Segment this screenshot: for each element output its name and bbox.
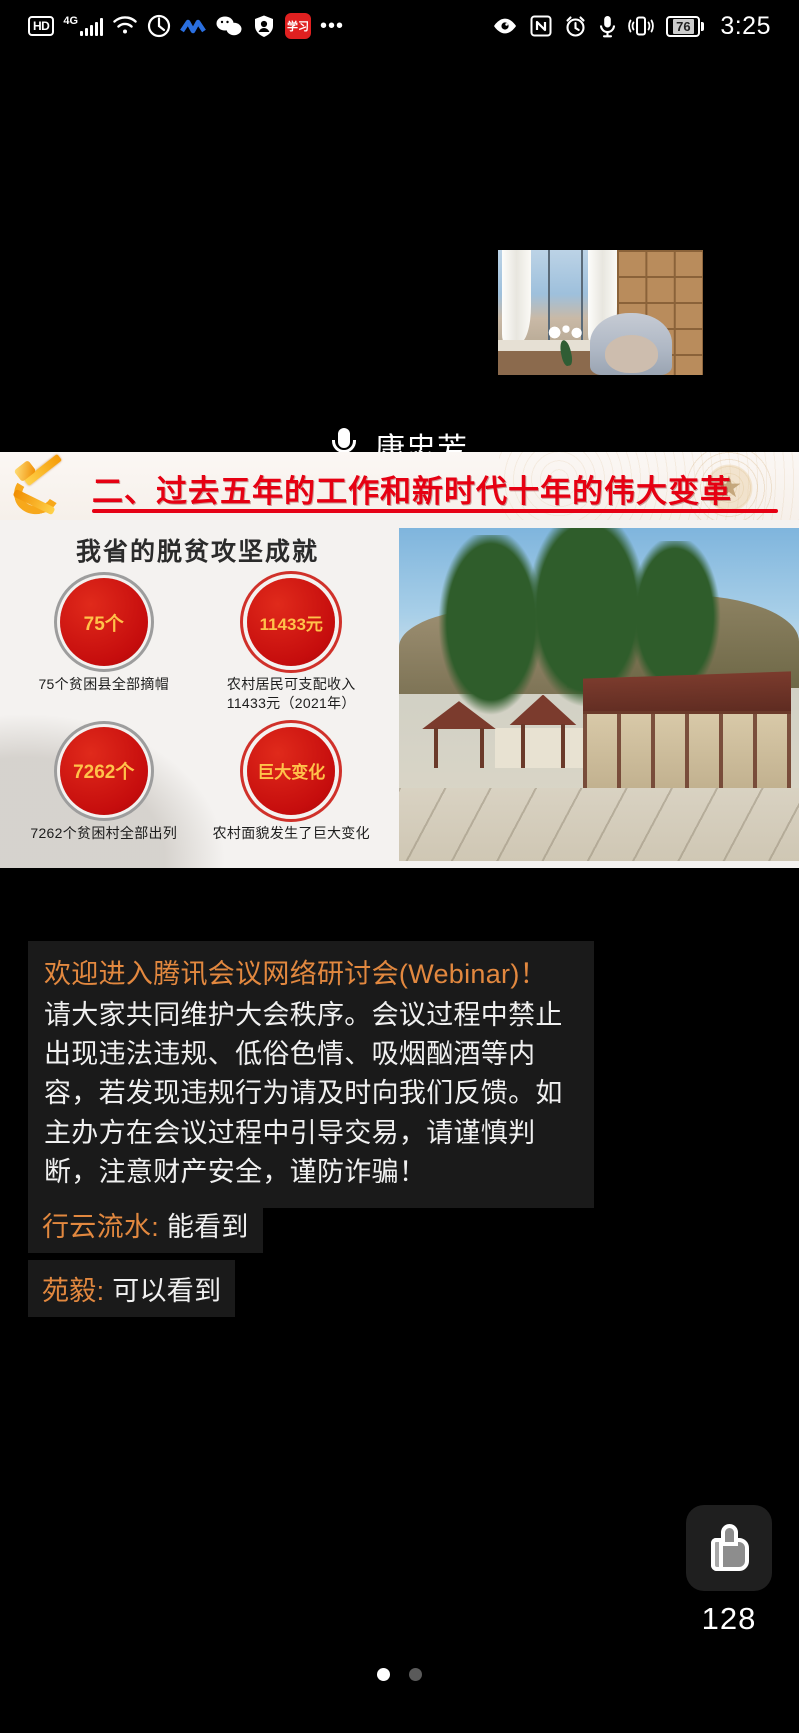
- nfc-icon: [530, 15, 552, 37]
- slide-body: 我省的脱贫攻坚成就 75个 75个贫困县全部摘帽 11433元 农村居民可支配收…: [0, 520, 799, 868]
- video-curtain-left: [502, 250, 531, 343]
- chat-notice-body: 请大家共同维护大会秩序。会议过程中禁止出现违法违规、低俗色情、吸烟酗酒等内容，若…: [44, 1000, 563, 1187]
- battery-indicator: 76: [666, 16, 704, 37]
- data-saver-icon: [147, 14, 171, 38]
- battery-percent: 76: [673, 19, 693, 34]
- like-control[interactable]: 128: [686, 1505, 772, 1637]
- vibrate-icon: [628, 15, 654, 37]
- stat-item: 7262个 7262个贫困村全部出列: [10, 727, 198, 843]
- status-bar-right-group: 76 3:25: [492, 12, 771, 41]
- status-bar-clock: 3:25: [720, 12, 771, 41]
- slide-title-underline: [92, 509, 778, 513]
- like-button[interactable]: [686, 1505, 772, 1591]
- stat-caption: 7262个贫困村全部出列: [30, 824, 177, 843]
- page-dot-1[interactable]: [377, 1668, 390, 1681]
- chat-message-text: 可以看到: [104, 1276, 221, 1306]
- video-stage[interactable]: 康忠芳: [0, 52, 799, 452]
- stat-caption: 农村居民可支配收入 11433元（2021年）: [227, 675, 356, 713]
- app-blue-icon: [180, 17, 206, 35]
- stat-caption: 75个贫困县全部摘帽: [38, 675, 169, 694]
- chat-overlay: 欢迎进入腾讯会议网络研讨会(Webinar)！ 请大家共同维护大会秩序。会议过程…: [0, 868, 799, 1508]
- stat-item: 75个 75个贫困县全部摘帽: [10, 578, 198, 713]
- slide-heading: 我省的脱贫攻坚成就: [10, 532, 385, 568]
- chat-message: 行云流水: 能看到: [28, 1196, 263, 1253]
- battery-tip-icon: [701, 22, 704, 31]
- video-orchid-plant: [543, 323, 588, 366]
- photo-building-columns: [583, 711, 791, 798]
- microphone-active-icon: [599, 15, 616, 38]
- stat-bubble: 巨大变化: [247, 727, 335, 815]
- stat-caption: 农村面貌发生了巨大变化: [213, 824, 370, 843]
- chat-message-sender: 行云流水:: [42, 1212, 159, 1242]
- stat-grid: 75个 75个贫困县全部摘帽 11433元 农村居民可支配收入 11433元（2…: [10, 578, 385, 843]
- participant-video-thumbnail[interactable]: [498, 250, 703, 375]
- signal-4g-icon: 4G: [63, 16, 103, 36]
- hd-icon: HD: [28, 16, 54, 36]
- status-bar-left-group: HD 4G 学习 •••: [28, 13, 344, 39]
- party-emblem-icon: [8, 462, 78, 520]
- status-bar: HD 4G 学习 •••: [0, 0, 799, 52]
- slide-title: 二、过去五年的工作和新时代十年的伟大变革: [92, 466, 732, 511]
- chat-message-text: 能看到: [159, 1212, 249, 1242]
- video-person-face: [605, 335, 658, 373]
- eye-comfort-icon: [492, 17, 518, 35]
- chat-message-sender: 苑毅:: [42, 1276, 104, 1306]
- stat-bubble: 7262个: [60, 727, 148, 815]
- stat-bubble: 75个: [60, 578, 148, 666]
- stat-item: 11433元 农村居民可支配收入 11433元（2021年）: [198, 578, 386, 713]
- xuexi-app-icon: 学习: [285, 13, 311, 39]
- chat-notice-message: 欢迎进入腾讯会议网络研讨会(Webinar)！ 请大家共同维护大会秩序。会议过程…: [28, 941, 594, 1208]
- chat-message: 苑毅: 可以看到: [28, 1260, 235, 1317]
- page-dot-2[interactable]: [409, 1668, 422, 1681]
- contact-icon: [252, 14, 276, 38]
- slide-photo: [399, 528, 799, 861]
- thumbs-up-icon: [703, 1524, 755, 1572]
- chat-notice-headline: 欢迎进入腾讯会议网络研讨会(Webinar)！: [44, 955, 578, 994]
- wechat-icon: [215, 15, 243, 37]
- shared-slide[interactable]: ★ 二、过去五年的工作和新时代十年的伟大变革 我省的脱贫攻坚成就 75个 75个…: [0, 452, 799, 868]
- page-indicator[interactable]: [0, 1668, 799, 1681]
- wifi-icon: [112, 15, 138, 37]
- photo-pavilion: [415, 701, 503, 768]
- slide-stats-column: 我省的脱贫攻坚成就 75个 75个贫困县全部摘帽 11433元 农村居民可支配收…: [10, 526, 385, 862]
- stat-bubble: 11433元: [247, 578, 335, 666]
- more-icon: •••: [320, 20, 344, 32]
- alarm-icon: [564, 15, 587, 38]
- photo-pavilion: [503, 695, 583, 768]
- meeting-app-screen: HD 4G 学习 •••: [0, 0, 799, 1733]
- photo-paving: [399, 788, 799, 861]
- like-count: 128: [702, 1601, 757, 1637]
- slide-header: ★ 二、过去五年的工作和新时代十年的伟大变革: [0, 452, 799, 520]
- stat-item: 巨大变化 农村面貌发生了巨大变化: [198, 727, 386, 843]
- signal-bars-icon: [80, 18, 103, 36]
- video-room-background: [498, 250, 703, 375]
- battery-body: 76: [666, 16, 700, 37]
